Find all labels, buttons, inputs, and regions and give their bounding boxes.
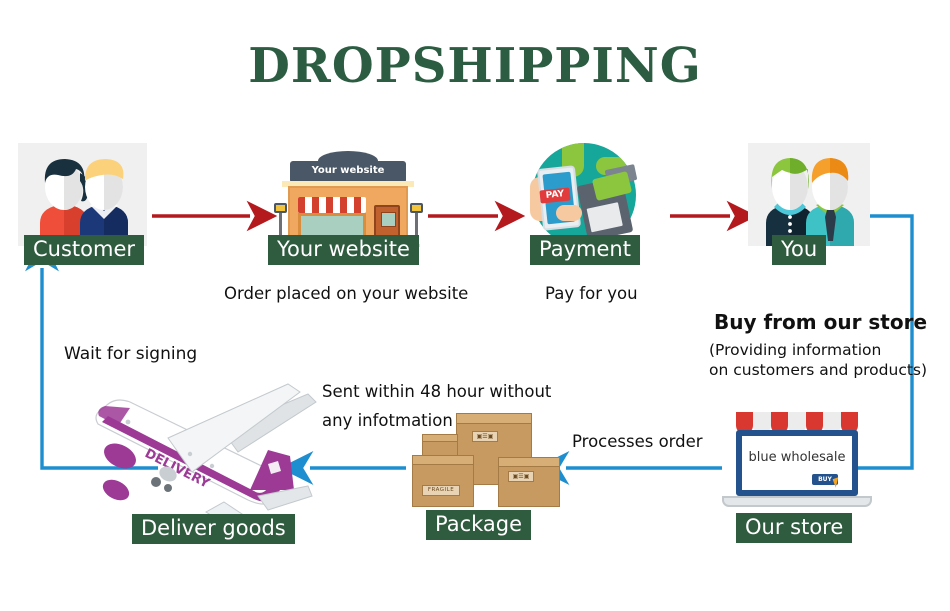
payment-illustration: PAY Payment <box>518 143 670 268</box>
annotation-sent-1: Sent within 48 hour without <box>322 382 551 401</box>
annotation-buy-sub-1: (Providing information <box>709 341 881 359</box>
annotation-processes-order: Processes order <box>572 432 703 451</box>
box-right <box>498 463 560 507</box>
shop-sign-text: Your website <box>290 165 406 176</box>
annotation-wait-for-signing: Wait for signing <box>64 344 197 364</box>
box-front-left-top <box>412 455 474 465</box>
node-deliver-goods[interactable]: DELIVERY Deliver <box>72 378 332 545</box>
label-package: Package <box>426 510 531 540</box>
box-small-top <box>422 434 458 442</box>
annotation-pay-for-you: Pay for you <box>545 284 638 303</box>
shop-sign: Your website <box>290 161 406 183</box>
node-payment[interactable]: PAY Payment <box>518 143 670 268</box>
annotation-order-placed: Order placed on your website <box>224 284 468 303</box>
store-screen-text: blue wholesale <box>742 450 852 465</box>
customer-avatar-pair-icon <box>18 143 147 246</box>
box-right-label: ▣☰▣ <box>508 471 534 482</box>
lamp-head-left <box>274 203 287 213</box>
box-front-left <box>412 461 474 507</box>
label-payment: Payment <box>530 235 640 265</box>
annotation-sent-2: any infotmation <box>322 411 453 430</box>
you-illustration: You <box>748 143 870 268</box>
plane-illustration: DELIVERY Deliver <box>72 378 332 545</box>
node-customer[interactable]: Customer <box>18 143 147 268</box>
node-you[interactable]: You <box>748 143 870 268</box>
box-large-label: ▣☰▣ <box>472 431 498 442</box>
customer-illustration: Customer <box>18 143 147 268</box>
our-store-illustration: blue wholesale BUY Our store <box>718 410 876 545</box>
label-customer: Customer <box>24 235 144 265</box>
label-our-store: Our store <box>736 513 852 543</box>
you-avatar-pair-icon <box>748 143 870 246</box>
annotation-buy-sub-2: on customers and products) <box>709 361 927 379</box>
infographic-canvas: DROPSHIPPING <box>0 0 950 611</box>
label-you: You <box>772 235 826 265</box>
page-title: DROPSHIPPING <box>0 38 950 94</box>
label-your-website: Your website <box>268 235 419 265</box>
box-right-top <box>498 457 560 467</box>
cursor-icon <box>833 477 842 488</box>
storefront-illustration: Your website <box>268 143 428 268</box>
laptop-screen: blue wholesale BUY <box>736 430 858 496</box>
laptop-base <box>722 496 872 507</box>
shop-door-window <box>381 212 396 227</box>
thumb-icon <box>556 205 582 221</box>
fragile-label: FRAGILE <box>422 485 460 496</box>
lamp-head-right <box>410 203 423 213</box>
node-our-store[interactable]: blue wholesale BUY Our store <box>718 410 876 545</box>
label-deliver-goods: Deliver goods <box>132 514 295 544</box>
shop-awning <box>298 197 366 213</box>
node-your-website[interactable]: Your website <box>268 143 428 268</box>
annotation-buy-from-our-store: Buy from our store <box>714 310 927 334</box>
